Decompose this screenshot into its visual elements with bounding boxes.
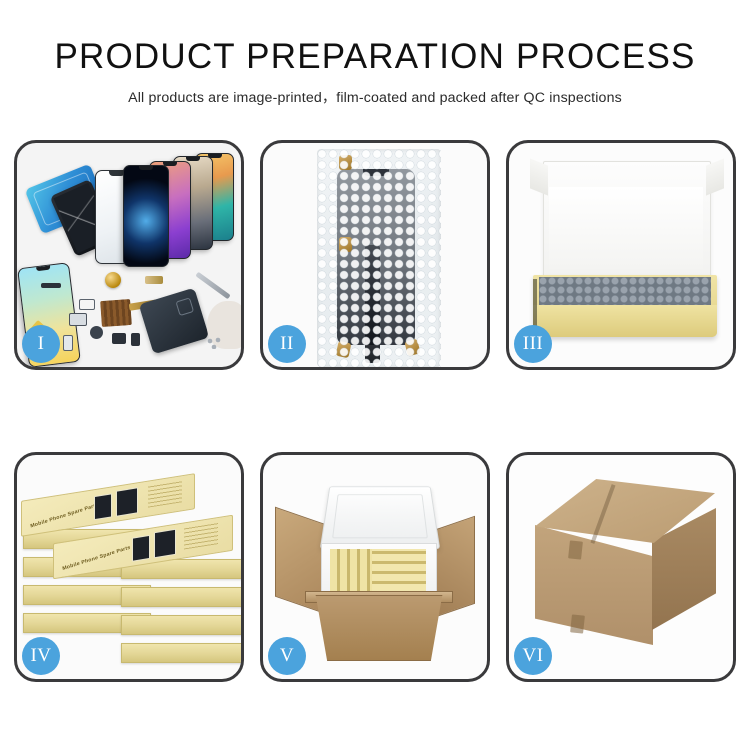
box-chip-graphic-2 [116, 487, 138, 516]
packed-boxes-graphic [330, 549, 426, 591]
small-part-graphic-6 [63, 335, 73, 351]
step-badge-1: I [22, 325, 60, 363]
step-panel-6: VI [506, 452, 736, 682]
bubble-wrap-bag-graphic [317, 149, 441, 367]
packed-boxes-group-1 [330, 549, 372, 591]
foam-lid-graphic [320, 486, 440, 549]
small-part-graphic-9 [79, 299, 95, 310]
speaker-coil-graphic [105, 272, 121, 288]
phone-screen-graphic-2 [123, 165, 169, 267]
step-panel-1: I [14, 140, 244, 370]
box-spec-lines-graphic-2 [184, 522, 218, 549]
small-part-graphic-4 [112, 333, 126, 344]
step-badge-3: III [514, 325, 552, 363]
logic-board-graphic [100, 299, 132, 327]
carton-tape-graphic-2 [570, 614, 585, 633]
box-label-text-1: Mobile Phone Spare Parts [30, 502, 99, 529]
foam-sheet-graphic [549, 187, 703, 269]
step-badge-4: IV [22, 637, 60, 675]
tweezers-graphic [195, 272, 230, 300]
stacked-box-graphic-6 [121, 615, 241, 635]
step-panel-5: V [260, 452, 490, 682]
small-part-graphic-2 [69, 313, 87, 326]
box-chip-graphic-4 [154, 529, 176, 558]
bubble-texture-graphic [317, 149, 441, 367]
step-badge-6: VI [514, 637, 552, 675]
small-part-graphic-7 [145, 276, 163, 284]
page-header: PRODUCT PREPARATION PROCESS All products… [0, 0, 750, 107]
carton-tape-graphic-1 [568, 540, 583, 559]
step-panel-4: Mobile Phone Spare Parts Mobile Phone Sp… [14, 452, 244, 682]
screws-graphic [207, 337, 227, 349]
page-subtitle: All products are image-printed，film-coat… [0, 87, 750, 107]
small-part-graphic-1 [41, 283, 61, 288]
box-spec-lines-graphic-1 [148, 480, 182, 507]
box-chip-graphic-1 [94, 493, 112, 520]
stacked-box-graphic-7 [121, 587, 241, 607]
step-panel-2: II [260, 140, 490, 370]
box-label-text-2: Mobile Phone Spare Parts [62, 545, 131, 572]
bubble-wrapped-contents-graphic [539, 277, 711, 307]
box-chip-graphic-3 [132, 535, 150, 562]
small-part-graphic-5 [131, 333, 140, 346]
yellow-box-front-graphic [533, 305, 717, 337]
back-housing-graphic [139, 288, 210, 355]
page-title: PRODUCT PREPARATION PROCESS [0, 38, 750, 76]
stacked-box-graphic-5 [121, 643, 241, 663]
product-preparation-page: PRODUCT PREPARATION PROCESS All products… [0, 0, 750, 750]
box-stack-graphic: Mobile Phone Spare Parts Mobile Phone Sp… [21, 475, 241, 669]
step-badge-5: V [268, 637, 306, 675]
carton-front-graphic [307, 595, 451, 661]
packed-boxes-group-2 [372, 549, 426, 591]
step-badge-2: II [268, 325, 306, 363]
step-panel-3: III [506, 140, 736, 370]
small-part-graphic-3 [90, 326, 103, 339]
process-steps-grid: I II [14, 140, 736, 682]
